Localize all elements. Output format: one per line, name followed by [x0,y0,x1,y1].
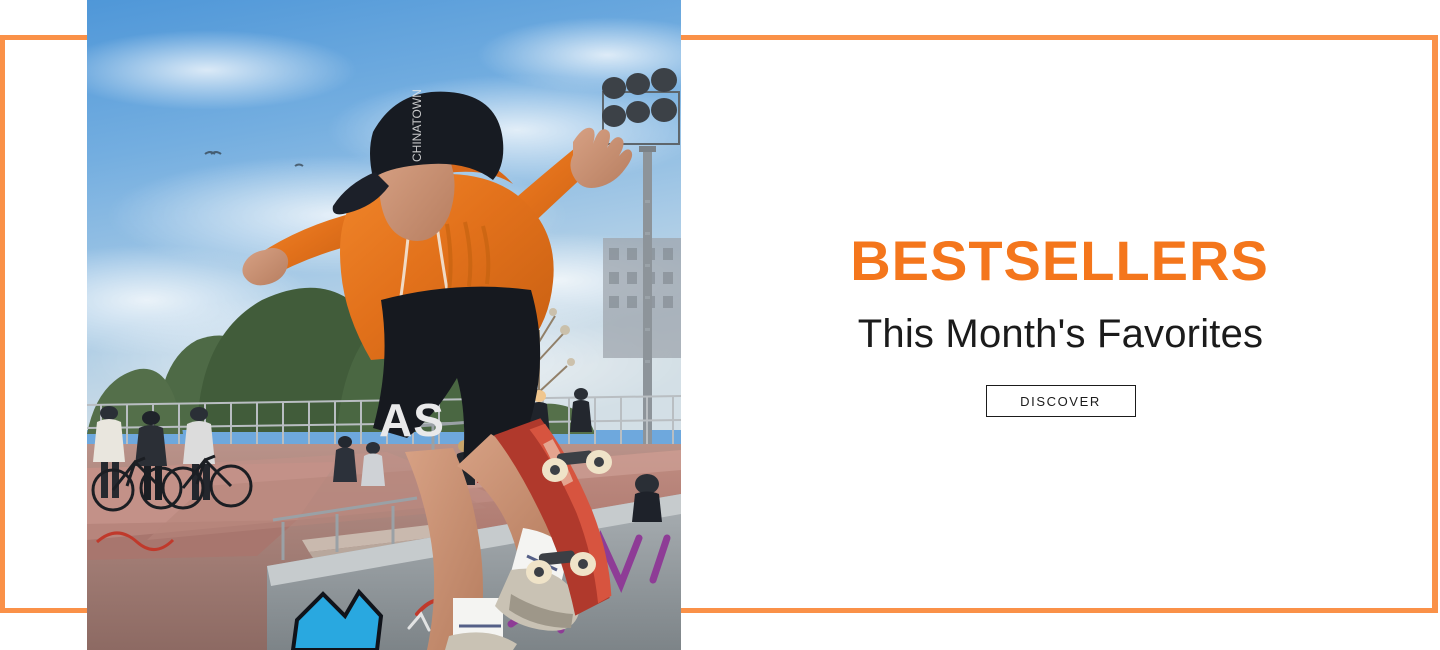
svg-text:CHINATOWN: CHINATOWN [410,89,424,162]
promo-subtitle: This Month's Favorites [858,311,1264,357]
discover-button[interactable]: DISCOVER [986,385,1136,417]
promo-content: BESTSELLERS This Month's Favorites DISCO… [681,0,1440,650]
shorts-brand-text: AS [379,394,445,446]
skatepark-hero-photo: CHINATOWN AS [87,0,681,650]
bestsellers-promo-banner: CHINATOWN AS [0,0,1440,650]
page-title: BESTSELLERS [850,233,1269,289]
